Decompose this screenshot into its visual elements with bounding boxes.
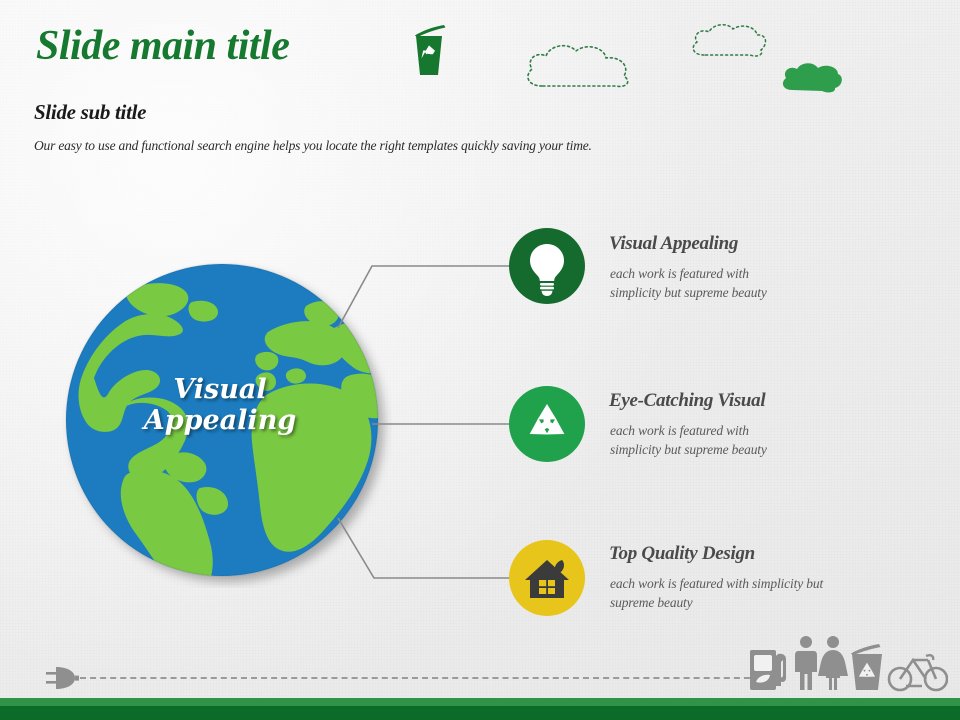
power-plug-icon [44,665,84,696]
dashed-cord-line [80,677,760,679]
eco-house-icon [509,540,585,616]
item-desc-line2: simplicity but supreme beauty [610,285,767,300]
cloud-solid [780,62,844,99]
item-desc-line2: supreme beauty [610,595,693,610]
item-desc-line1: each work is featured with [610,266,749,281]
footer-bar-light [0,698,960,706]
item-icon-circle-top-quality-design[interactable] [509,540,585,616]
item-desc-visual-appealing: each work is featured with simplicity bu… [610,264,890,302]
item-title-top-quality-design: Top Quality Design [609,543,755,565]
footer-bar-dark [0,706,960,720]
recycle-bin-icon [851,644,882,690]
footer-icon-group [748,634,948,699]
recycle-icon [509,386,585,462]
globe-graphic: Visual Appealing [62,258,392,588]
recycle-bin-icon [406,22,452,83]
item-icon-circle-visual-appealing[interactable] [509,228,585,304]
man-icon [795,636,817,690]
item-desc-line1: each work is featured with simplicity bu… [610,576,823,591]
woman-icon [818,636,848,690]
bicycle-icon [889,655,947,690]
slide-canvas: Slide main title Slide sub title Our eas… [0,0,960,720]
item-desc-eye-catching-visual: each work is featured with simplicity bu… [610,421,890,459]
item-title-eye-catching-visual: Eye-Catching Visual [609,390,765,412]
fuel-pump-eco-icon [750,650,786,690]
item-desc-line2: simplicity but supreme beauty [610,442,767,457]
item-desc-line1: each work is featured with [610,423,749,438]
cloud-outline-small [688,22,770,65]
item-title-visual-appealing: Visual Appealing [609,233,738,255]
item-desc-top-quality-design: each work is featured with simplicity bu… [610,574,910,612]
page-description: Our easy to use and functional search en… [34,138,592,154]
page-subtitle: Slide sub title [34,100,146,125]
cloud-outline-large [520,40,638,97]
lightbulb-icon [509,228,585,304]
page-title: Slide main title [36,22,289,70]
item-icon-circle-eye-catching-visual[interactable] [509,386,585,462]
